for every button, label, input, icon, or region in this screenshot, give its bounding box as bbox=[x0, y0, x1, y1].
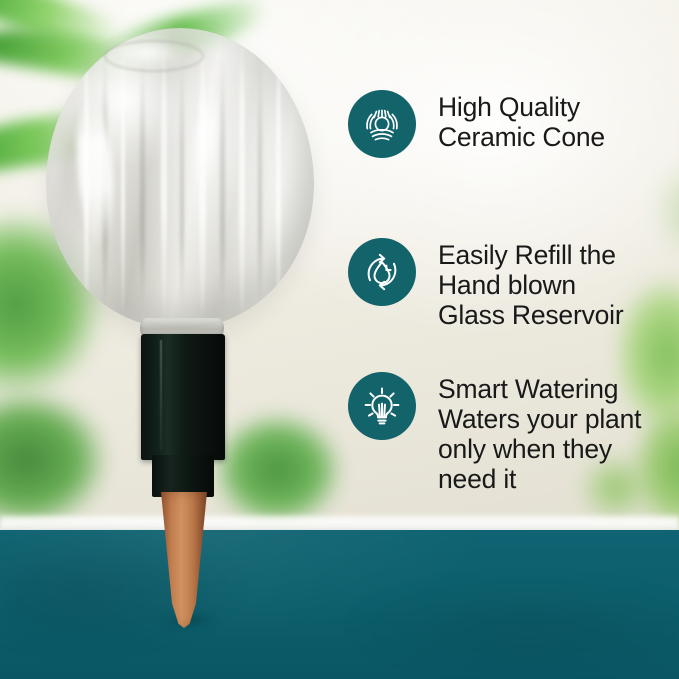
water-drop-refresh-icon bbox=[358, 248, 406, 296]
glass-top-ring bbox=[104, 40, 204, 72]
product-feature-image: High Quality Ceramic Cone Easily Refill … bbox=[0, 0, 679, 679]
feature-item-ceramic-cone: High Quality Ceramic Cone bbox=[348, 90, 605, 158]
feature-list: High Quality Ceramic Cone Easily Refill … bbox=[348, 0, 679, 679]
feature-item-refill-reservoir: Easily Refill the Hand blown Glass Reser… bbox=[348, 238, 624, 330]
feature-icon-badge bbox=[348, 372, 416, 440]
feature-label: Smart Watering Waters your plant only wh… bbox=[438, 372, 641, 494]
hands-cradling-sphere-icon bbox=[358, 100, 406, 148]
product-photo bbox=[0, 0, 340, 679]
terracotta-ceramic-cone bbox=[161, 492, 207, 628]
lightbulb-idea-icon bbox=[358, 382, 406, 430]
feature-icon-badge bbox=[348, 90, 416, 158]
feature-label: High Quality Ceramic Cone bbox=[438, 90, 605, 152]
feature-icon-badge bbox=[348, 238, 416, 306]
feature-item-smart-watering: Smart Watering Waters your plant only wh… bbox=[348, 372, 641, 494]
black-collar bbox=[141, 334, 225, 460]
collar-seam bbox=[160, 340, 162, 450]
feature-label: Easily Refill the Hand blown Glass Reser… bbox=[438, 238, 624, 330]
collar-lower-step bbox=[152, 455, 214, 497]
